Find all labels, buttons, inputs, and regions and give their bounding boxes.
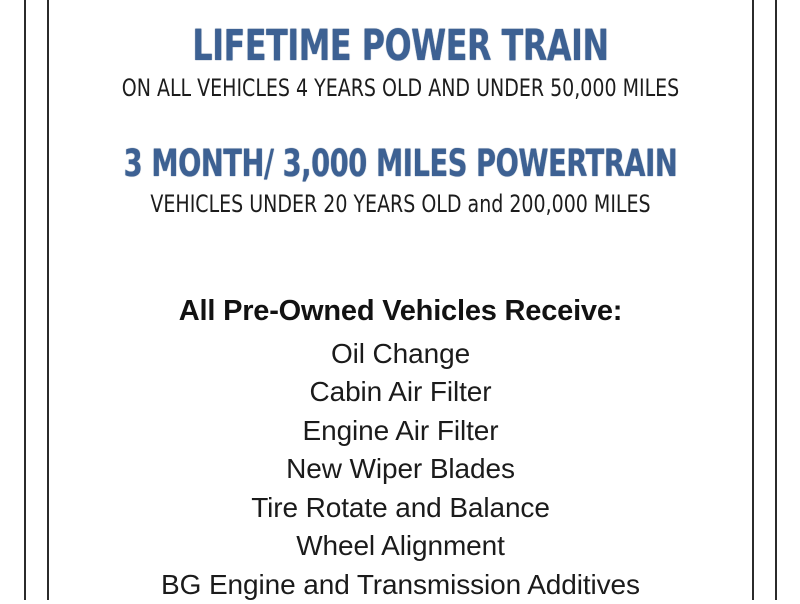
warranty-headline-lifetime: LIFETIME POWER TRAIN bbox=[112, 24, 688, 69]
list-item: BG Engine and Transmission Additives bbox=[49, 566, 752, 604]
services-list: Oil Change Cabin Air Filter Engine Air F… bbox=[49, 335, 752, 604]
list-item: Oil Change bbox=[49, 335, 752, 374]
services-section: All Pre-Owned Vehicles Receive: Oil Chan… bbox=[49, 217, 752, 604]
warranty-headline-three-month: 3 MONTH/ 3,000 MILES POWERTRAIN bbox=[112, 145, 688, 183]
warranty-block-lifetime: LIFETIME POWER TRAIN ON ALL VEHICLES 4 Y… bbox=[49, 0, 752, 101]
border-rule-right-inner bbox=[752, 0, 754, 600]
services-heading: All Pre-Owned Vehicles Receive: bbox=[49, 297, 752, 326]
list-item: Engine Air Filter bbox=[49, 412, 752, 451]
list-item: Cabin Air Filter bbox=[49, 373, 752, 412]
warranty-block-three-month: 3 MONTH/ 3,000 MILES POWERTRAIN VEHICLES… bbox=[49, 101, 752, 217]
border-rule-right-outer bbox=[775, 0, 777, 600]
flyer-content: LIFETIME POWER TRAIN ON ALL VEHICLES 4 Y… bbox=[49, 0, 752, 600]
list-item: Tire Rotate and Balance bbox=[49, 489, 752, 528]
list-item: Wheel Alignment bbox=[49, 527, 752, 566]
border-rule-left-outer bbox=[24, 0, 26, 600]
list-item: New Wiper Blades bbox=[49, 450, 752, 489]
warranty-subline-lifetime: ON ALL VEHICLES 4 YEARS OLD AND UNDER 50… bbox=[91, 75, 710, 101]
warranty-subline-three-month: VEHICLES UNDER 20 YEARS OLD and 200,000 … bbox=[91, 191, 710, 217]
